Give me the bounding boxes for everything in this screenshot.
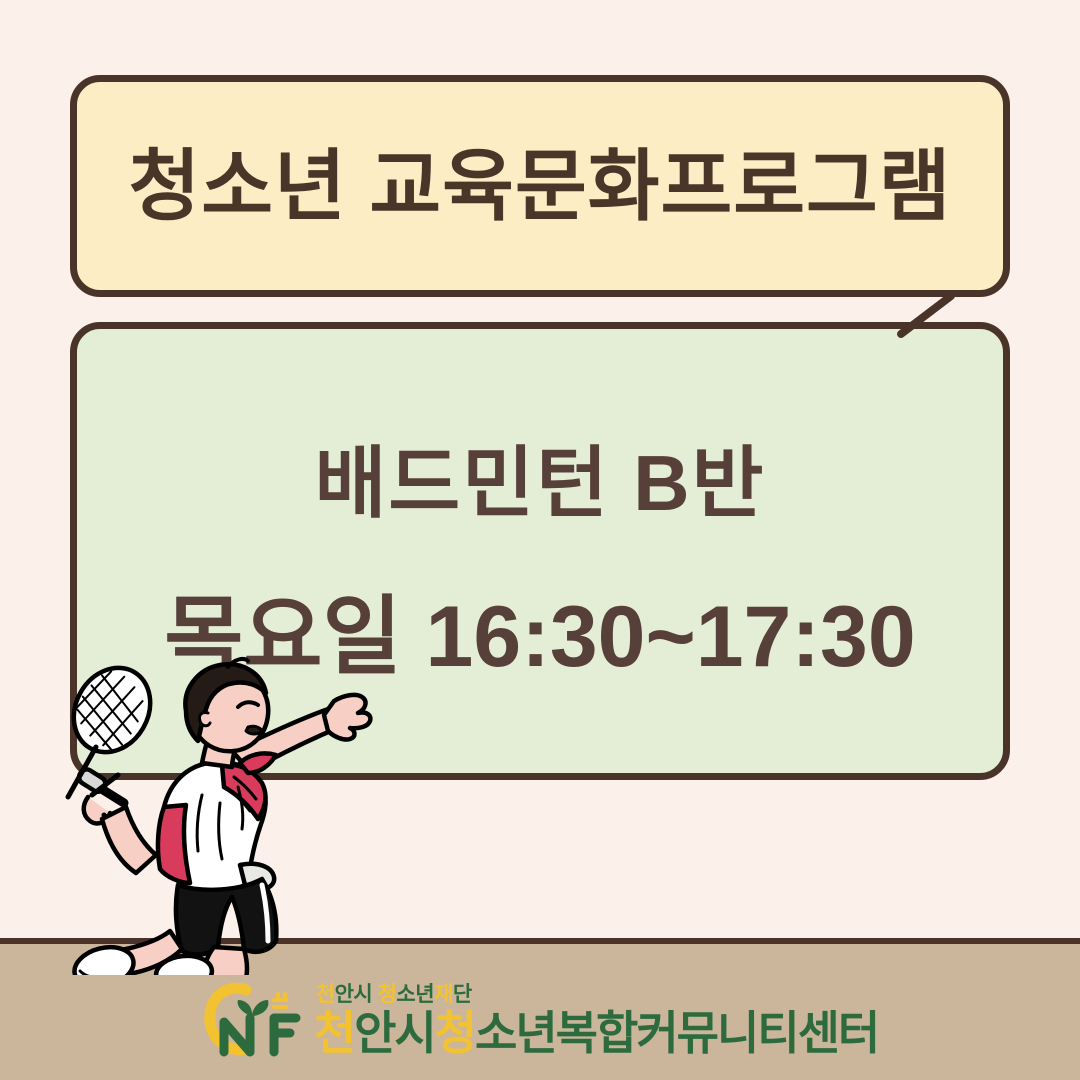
- course-name: 배드민턴 B반: [315, 444, 766, 522]
- title-card: 청소년 교육문화프로그램: [70, 75, 1010, 297]
- center-name: 천안시청소년복합커뮤니티센터: [314, 1010, 879, 1056]
- footer-text-block: 천안시 청소년재단 천안시청소년복합커뮤니티센터: [314, 984, 879, 1056]
- foundation-name: 천안시 청소년재단: [316, 984, 879, 1005]
- poster-canvas: 청소년 교육문화프로그램 배드민턴 B반 목요일 16:30~17:30: [0, 0, 1080, 1080]
- cyf-sprout-logo-icon: [202, 978, 306, 1062]
- badminton-player-illustration: [52, 655, 382, 975]
- footer: 천안시 청소년재단 천안시청소년복합커뮤니티센터: [0, 972, 1080, 1068]
- page-title: 청소년 교육문화프로그램: [128, 147, 951, 225]
